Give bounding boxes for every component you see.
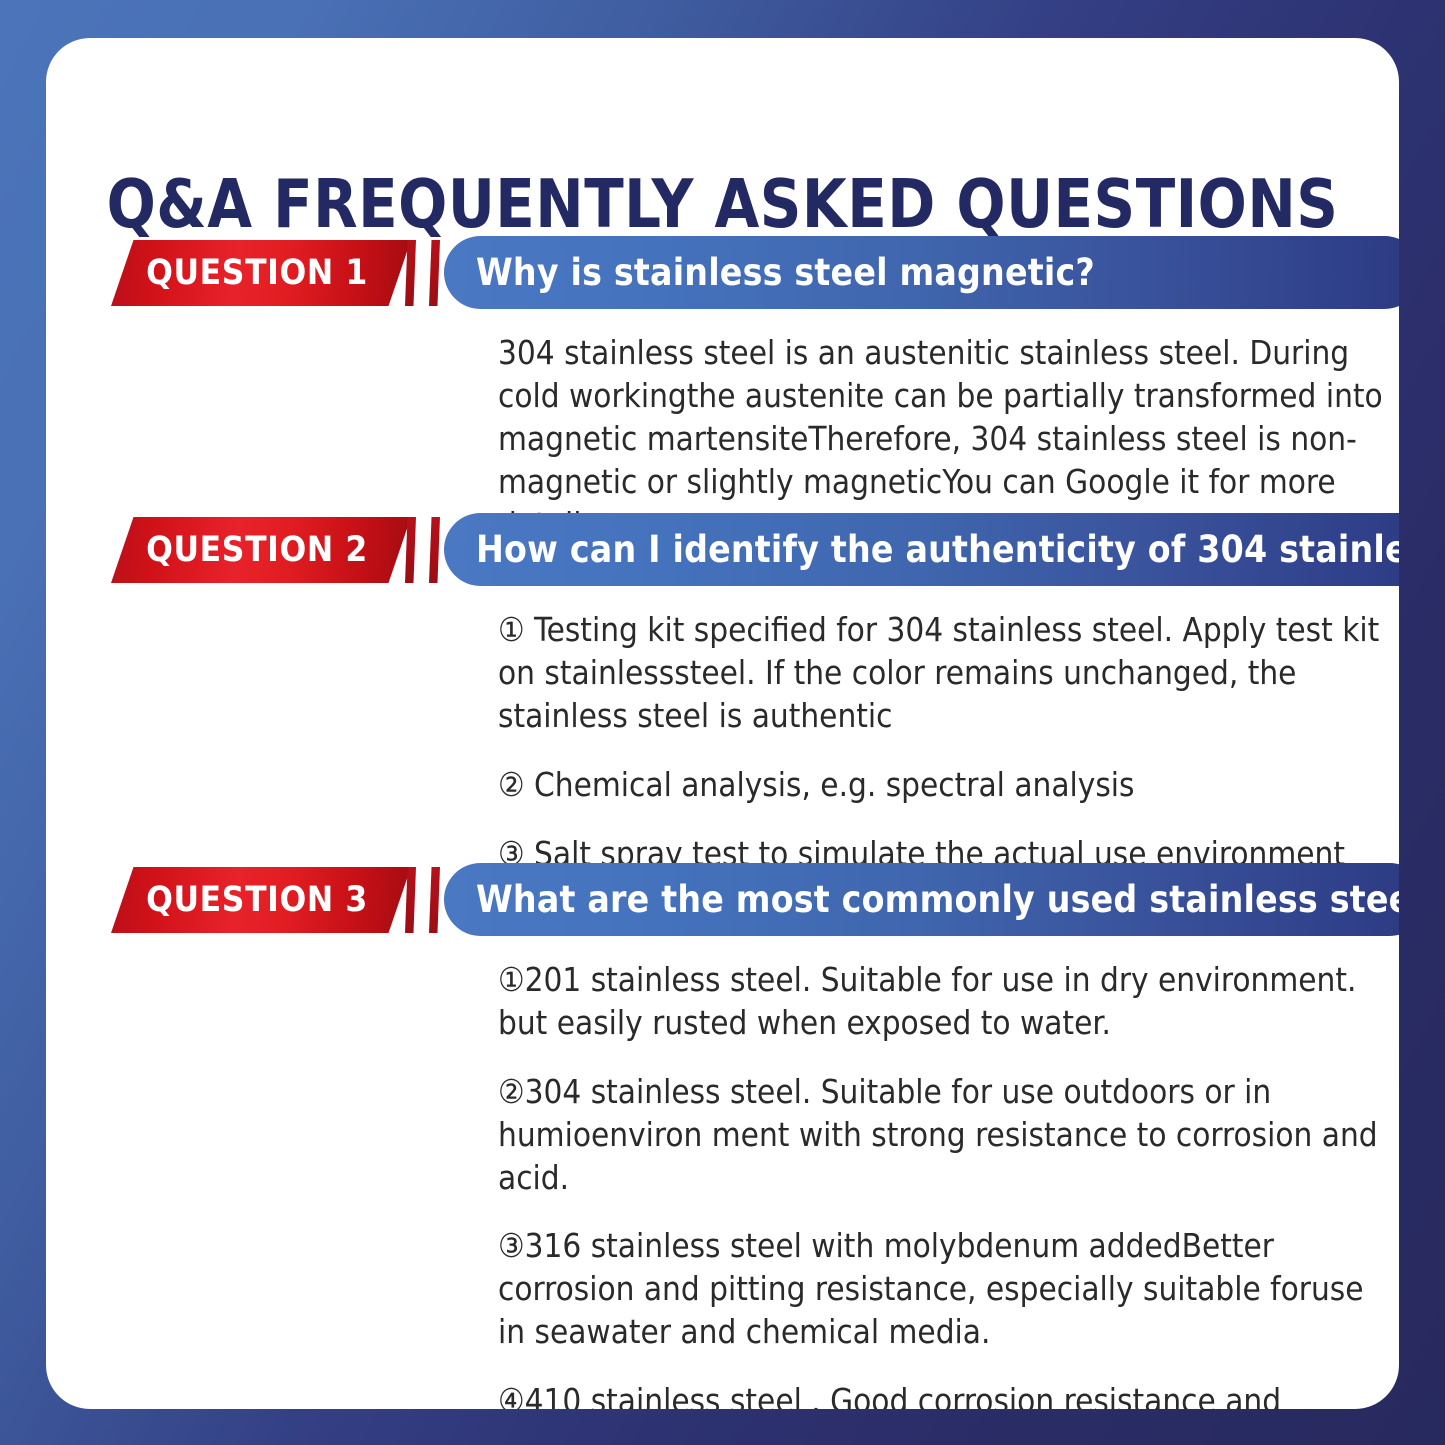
faq-item-2: QUESTION 2 How can I identify the authen… <box>46 513 1399 585</box>
answer-paragraph: ② Chemical analysis, e.g. spectral analy… <box>498 764 1388 807</box>
question-pill-3[interactable]: What are the most commonly used stainles… <box>444 863 1399 936</box>
question-text-1: Why is stainless steel magnetic? <box>476 251 1095 294</box>
faq-item-3: QUESTION 3 What are the most commonly us… <box>46 863 1399 935</box>
question-header-2: QUESTION 2 How can I identify the authen… <box>46 513 1399 585</box>
question-number-tag-2: QUESTION 2 <box>111 517 411 583</box>
question-pill-1[interactable]: Why is stainless steel magnetic? <box>444 236 1399 309</box>
answer-block-3: ①201 stainless steel. Suitable for use i… <box>498 959 1388 1409</box>
faq-infographic: Q&A FREQUENTLY ASKED QUESTIONS QUESTION … <box>0 0 1445 1445</box>
answer-block-2: ① Testing kit specified for 304 stainles… <box>498 609 1388 875</box>
faq-card: Q&A FREQUENTLY ASKED QUESTIONS QUESTION … <box>46 38 1399 1409</box>
question-header-3: QUESTION 3 What are the most commonly us… <box>46 863 1399 935</box>
answer-paragraph: ③316 stainless steel with molybdenum add… <box>498 1225 1388 1354</box>
question-header-1: QUESTION 1 Why is stainless steel magnet… <box>46 236 1399 308</box>
question-number-tag-3: QUESTION 3 <box>111 867 411 933</box>
answer-paragraph: ②304 stainless steel. Suitable for use o… <box>498 1071 1388 1200</box>
question-number-tag-1: QUESTION 1 <box>111 240 411 306</box>
question-number-label-3: QUESTION 3 <box>146 880 368 920</box>
answer-paragraph: ④410 stainless steel . Good corrosion re… <box>498 1380 1388 1409</box>
question-pill-2[interactable]: How can I identify the authenticity of 3… <box>444 513 1399 586</box>
page-title: Q&A FREQUENTLY ASKED QUESTIONS <box>73 171 1372 238</box>
answer-paragraph: ①201 stainless steel. Suitable for use i… <box>498 959 1388 1045</box>
question-number-label-1: QUESTION 1 <box>146 253 368 293</box>
question-number-label-2: QUESTION 2 <box>146 530 368 570</box>
question-text-3: What are the most commonly used stainles… <box>476 878 1399 921</box>
question-text-2: How can I identify the authenticity of 3… <box>476 528 1399 571</box>
answer-paragraph: ① Testing kit specified for 304 stainles… <box>498 609 1388 738</box>
faq-item-1: QUESTION 1 Why is stainless steel magnet… <box>46 236 1399 308</box>
